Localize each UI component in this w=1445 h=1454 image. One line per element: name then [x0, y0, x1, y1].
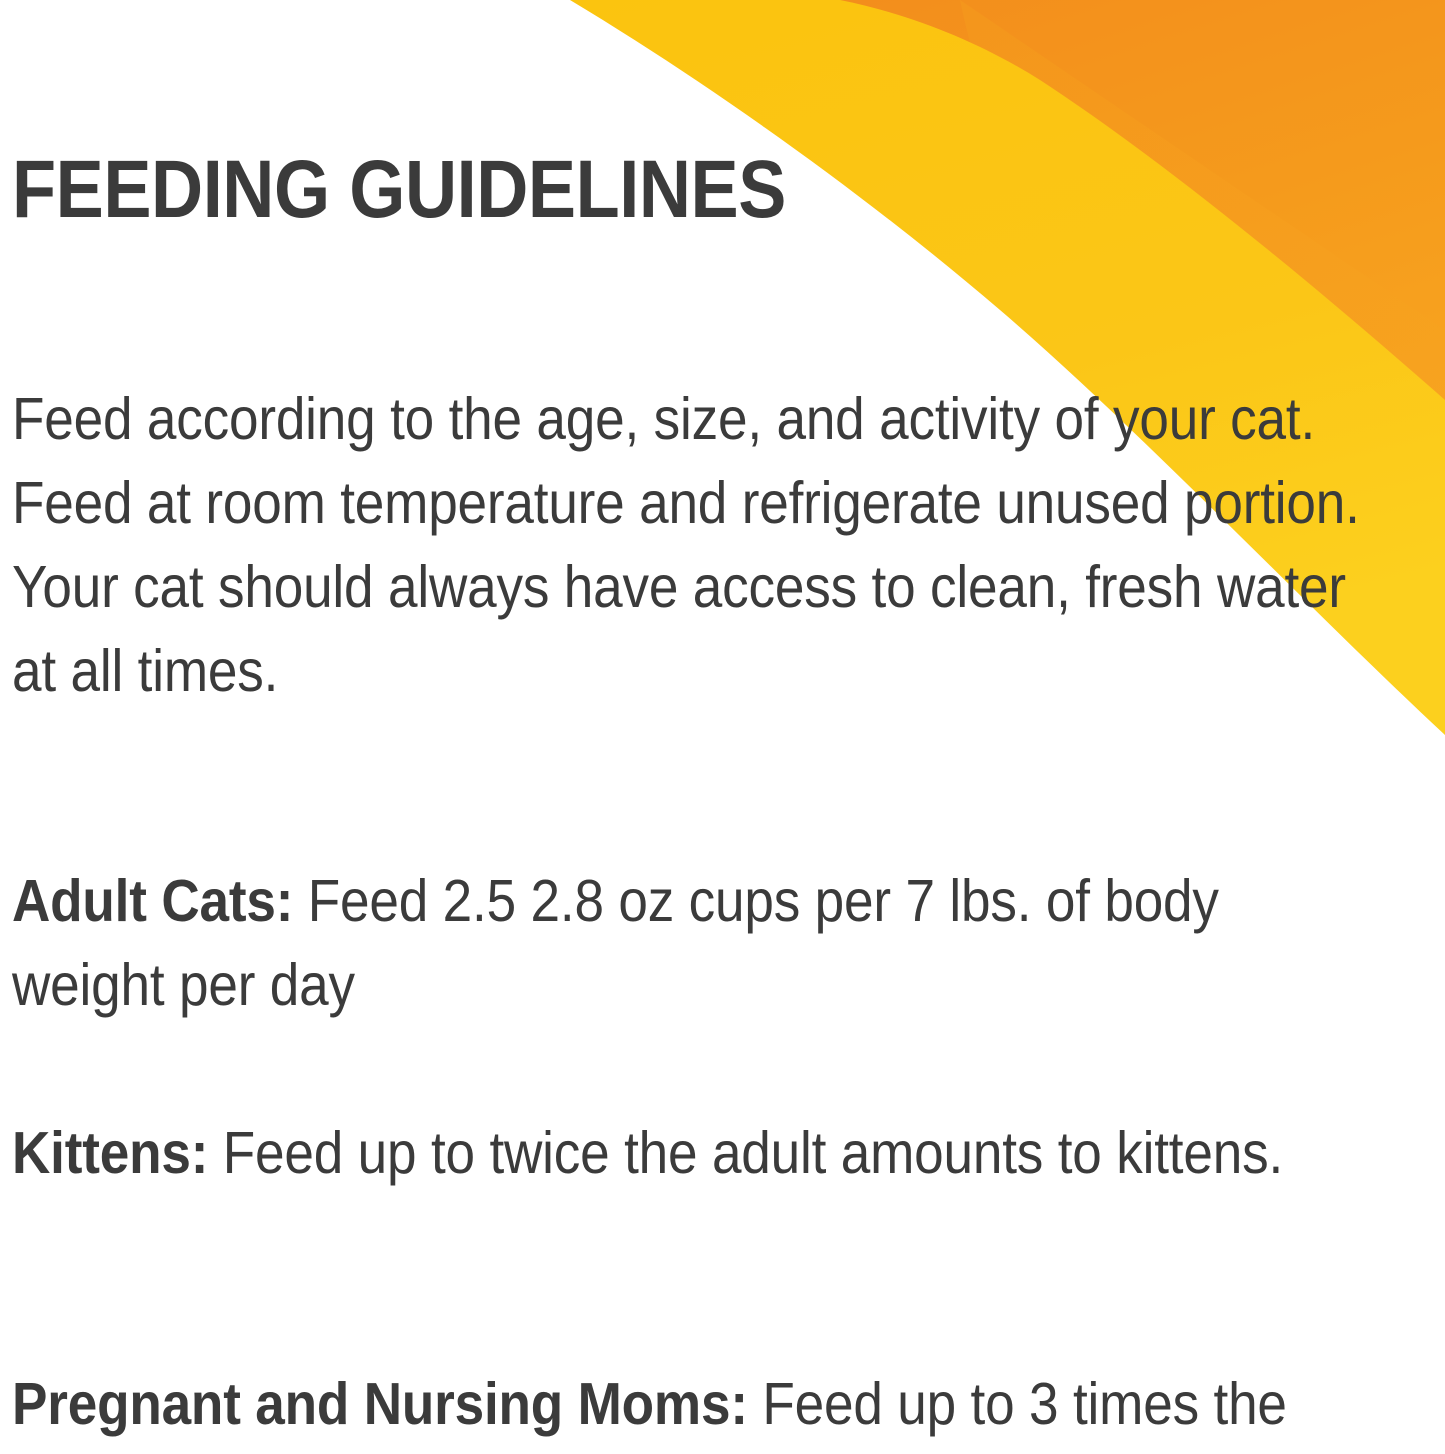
- section-pregnant-nursing-moms: Pregnant and Nursing Moms: Feed up to 3 …: [12, 1362, 1362, 1454]
- section-text-kittens: Feed up to twice the adult amounts to ki…: [208, 1120, 1283, 1186]
- section-label-adult-cats: Adult Cats:: [12, 868, 293, 934]
- section-adult-cats: Adult Cats: Feed 2.5 2.8 oz cups per 7 l…: [12, 859, 1362, 1027]
- feeding-guidelines-panel: FEEDING GUIDELINES Feed according to the…: [0, 0, 1445, 1454]
- section-label-kittens: Kittens:: [12, 1120, 208, 1186]
- section-label-pregnant-nursing-moms: Pregnant and Nursing Moms:: [12, 1371, 748, 1437]
- intro-paragraph: Feed according to the age, size, and act…: [12, 377, 1362, 713]
- page-title: FEEDING GUIDELINES: [12, 147, 786, 233]
- section-kittens: Kittens: Feed up to twice the adult amou…: [12, 1111, 1362, 1195]
